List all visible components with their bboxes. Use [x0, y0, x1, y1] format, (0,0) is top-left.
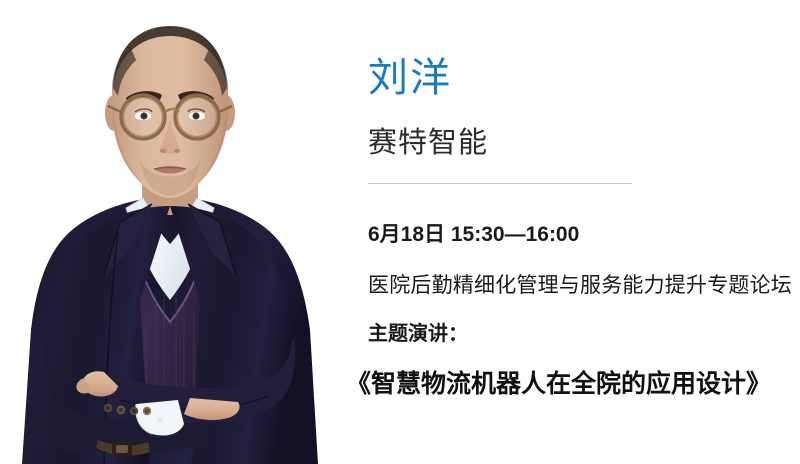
speaker-intro-card: 刘洋 赛特智能 6月18日 15:30—16:00 医院后勤精细化管理与服务能力…	[0, 0, 800, 464]
session-time: 6月18日 15:30—16:00	[368, 221, 579, 249]
forum-name: 医院后勤精细化管理与服务能力提升专题论坛	[368, 272, 792, 300]
speaker-name: 刘洋	[368, 54, 452, 102]
speaker-portrait	[0, 0, 340, 464]
section-divider	[368, 183, 632, 184]
talk-title: 《智慧物流机器人在全院的应用设计》	[346, 367, 771, 401]
speaker-info-pane: 刘洋 赛特智能 6月18日 15:30—16:00 医院后勤精细化管理与服务能力…	[340, 0, 800, 464]
speaker-photo-pane	[0, 0, 340, 464]
speaker-organization: 赛特智能	[368, 124, 488, 162]
talk-label: 主题演讲：	[368, 320, 468, 348]
